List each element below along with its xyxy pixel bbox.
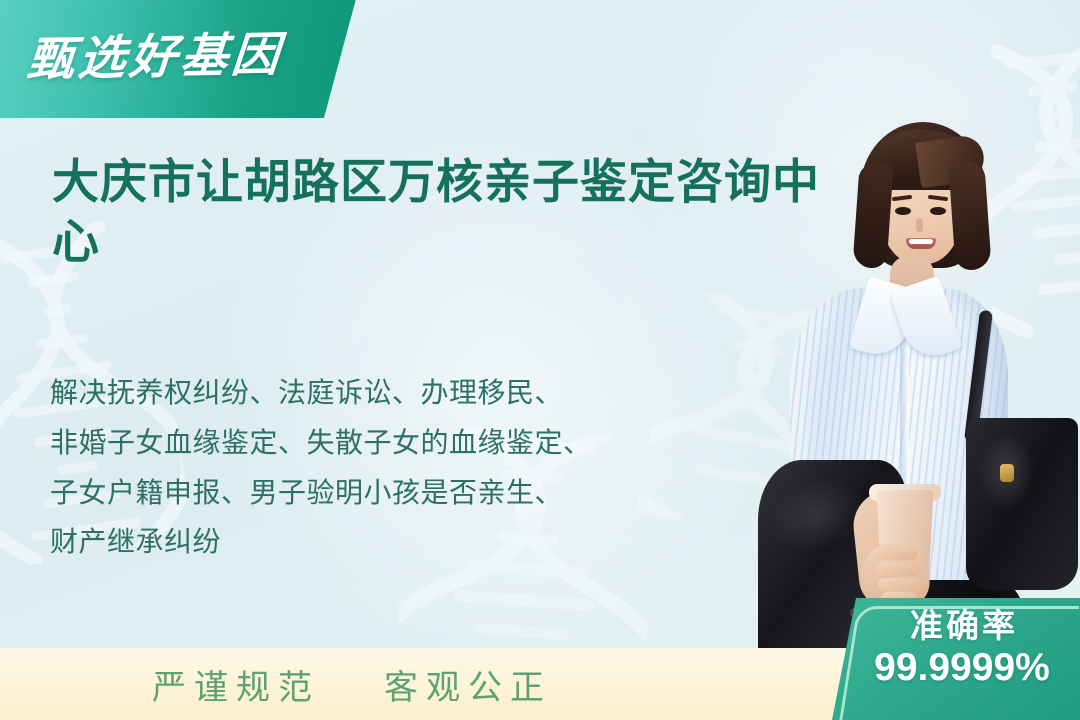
finger: [878, 578, 922, 592]
finger: [874, 546, 918, 560]
eye-left: [895, 207, 911, 215]
accuracy-badge: 准确率 99.9999%: [826, 598, 1080, 720]
description-line: 解决抚养权纠纷、法庭诉讼、办理移民、: [50, 368, 740, 418]
teeth: [909, 239, 933, 244]
service-description: 解决抚养权纠纷、法庭诉讼、办理移民、 非婚子女血缘鉴定、失散子女的血缘鉴定、 子…: [50, 368, 740, 567]
slogan-left: 严谨规范: [152, 660, 320, 709]
eye-right: [930, 207, 946, 215]
accuracy-label: 准确率: [848, 608, 1080, 644]
handbag-clasp: [1000, 464, 1014, 482]
hair-side-right: [948, 161, 991, 271]
description-line: 财产继承纠纷: [50, 517, 740, 567]
slogan-right: 客观公正: [384, 660, 552, 709]
finger: [876, 562, 920, 576]
description-line: 非婚子女血缘鉴定、失散子女的血缘鉴定、: [50, 418, 740, 468]
hair-side-left: [852, 163, 893, 269]
accuracy-value: 99.9999%: [844, 646, 1080, 691]
brand-logo-text: 甄选好基因: [25, 15, 286, 89]
page-title: 大庆市让胡路区万核亲子鉴定咨询中心: [52, 152, 862, 272]
brand-logo-banner[interactable]: 甄选好基因: [0, 0, 360, 118]
description-line: 子女户籍申报、男子验明小孩是否亲生、: [50, 468, 740, 518]
nose: [916, 218, 923, 232]
promo-banner: 甄选好基因 大庆市让胡路区万核亲子鉴定咨询中心 解决抚养权纠纷、法庭诉讼、办理移…: [0, 0, 1080, 720]
